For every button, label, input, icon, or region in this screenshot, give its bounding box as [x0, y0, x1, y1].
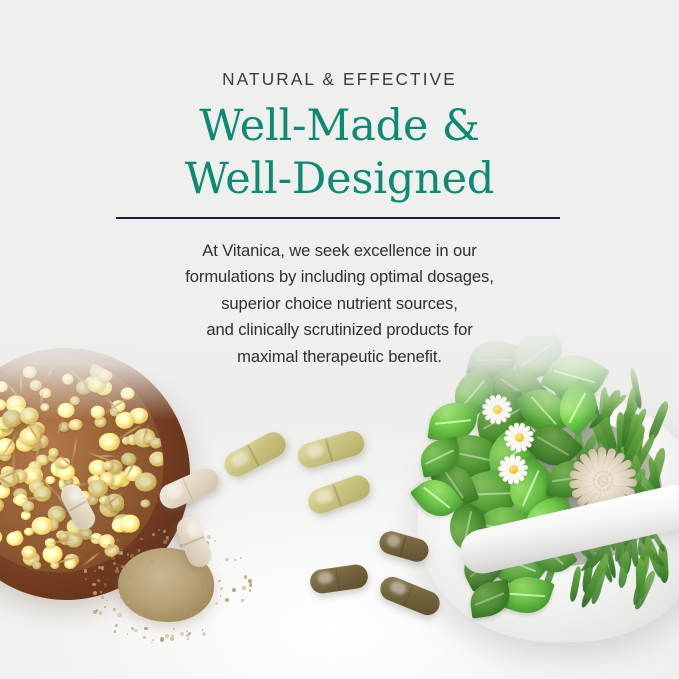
headline-line-1: Well-Made &	[0, 100, 679, 153]
product-photo	[0, 330, 679, 679]
body-line-4: and clinically scrutinized products for	[0, 317, 679, 343]
body-line-1: At Vitanica, we seek excellence in our	[0, 238, 679, 264]
body-copy: At Vitanica, we seek excellence in our f…	[0, 238, 679, 370]
marketing-banner: NATURAL & EFFECTIVE Well-Made & Well-Des…	[0, 0, 679, 679]
body-line-2: formulations by including optimal dosage…	[0, 264, 679, 290]
dried-petal	[613, 478, 637, 487]
daisy-flower	[482, 394, 512, 424]
body-line-3: superior choice nutrient sources,	[0, 291, 679, 317]
daisy-flower	[498, 454, 528, 484]
daisy-flower	[504, 422, 534, 452]
page-title: Well-Made & Well-Designed	[0, 100, 679, 206]
divider-rule	[116, 217, 560, 219]
eyebrow-text: NATURAL & EFFECTIVE	[0, 69, 679, 90]
headline-line-2: Well-Designed	[0, 153, 679, 206]
body-line-5: maximal therapeutic benefit.	[0, 344, 679, 370]
text-block: NATURAL & EFFECTIVE Well-Made & Well-Des…	[0, 0, 679, 380]
